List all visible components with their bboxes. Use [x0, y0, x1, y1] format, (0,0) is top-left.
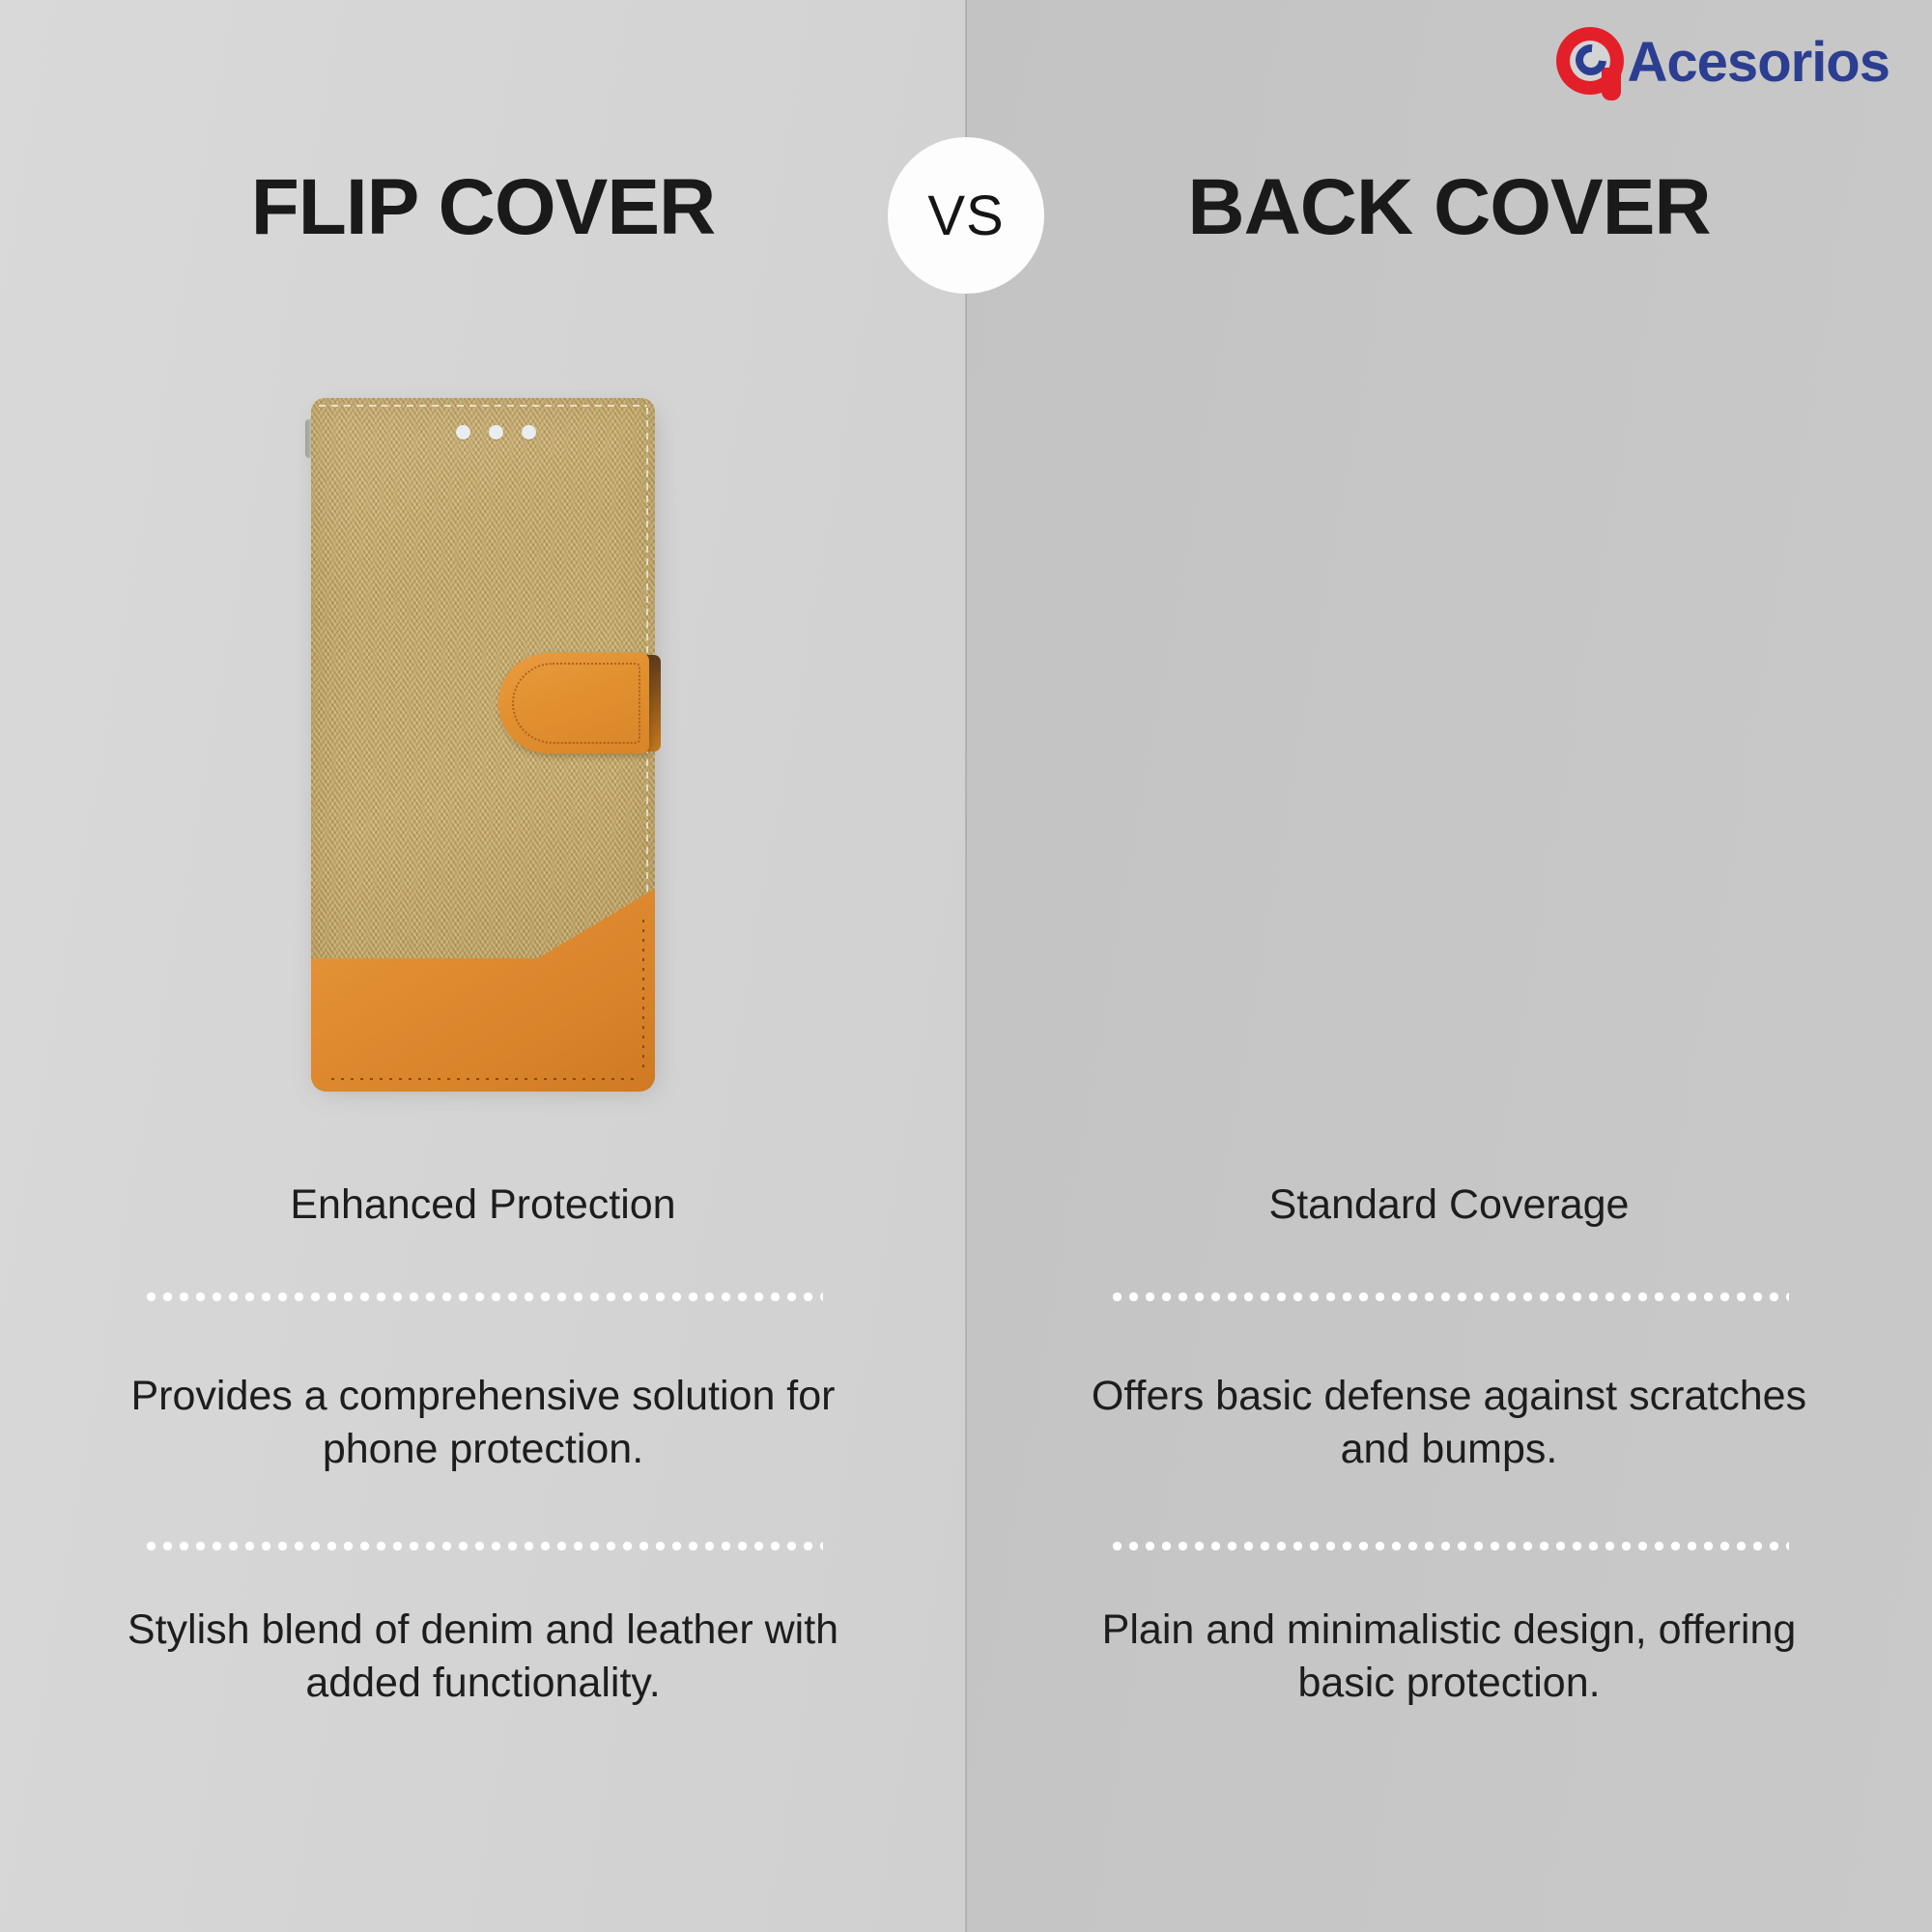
- right-feature-2: Plain and minimalistic design, offering …: [1053, 1604, 1845, 1710]
- flip-cover-leather-panel: [311, 889, 655, 1092]
- right-product-stage: [966, 0, 1932, 1159]
- left-product-stage: [0, 0, 966, 1159]
- infographic-canvas: Acesorios FLIP COVER BACK COVER VS: [0, 0, 1932, 1932]
- right-divider-dotted-2: [1109, 1542, 1789, 1550]
- flip-cover-magnetic-clasp: [498, 653, 649, 753]
- flip-cover-dots-icon: [456, 425, 536, 440]
- right-divider-dotted-1: [1109, 1293, 1789, 1301]
- left-divider-dotted-2: [143, 1542, 823, 1550]
- vs-badge: VS: [888, 137, 1044, 294]
- left-feature-1: Provides a comprehensive solution for ph…: [87, 1370, 879, 1476]
- left-feature-2: Stylish blend of denim and leather with …: [87, 1604, 879, 1710]
- flip-cover-khaki-denim-leather-photo: [311, 398, 655, 1092]
- right-feature-1: Offers basic defense against scratches a…: [1053, 1370, 1845, 1476]
- left-caption: Enhanced Protection: [0, 1180, 966, 1231]
- right-caption: Standard Coverage: [966, 1180, 1932, 1231]
- left-divider-dotted-1: [143, 1293, 823, 1301]
